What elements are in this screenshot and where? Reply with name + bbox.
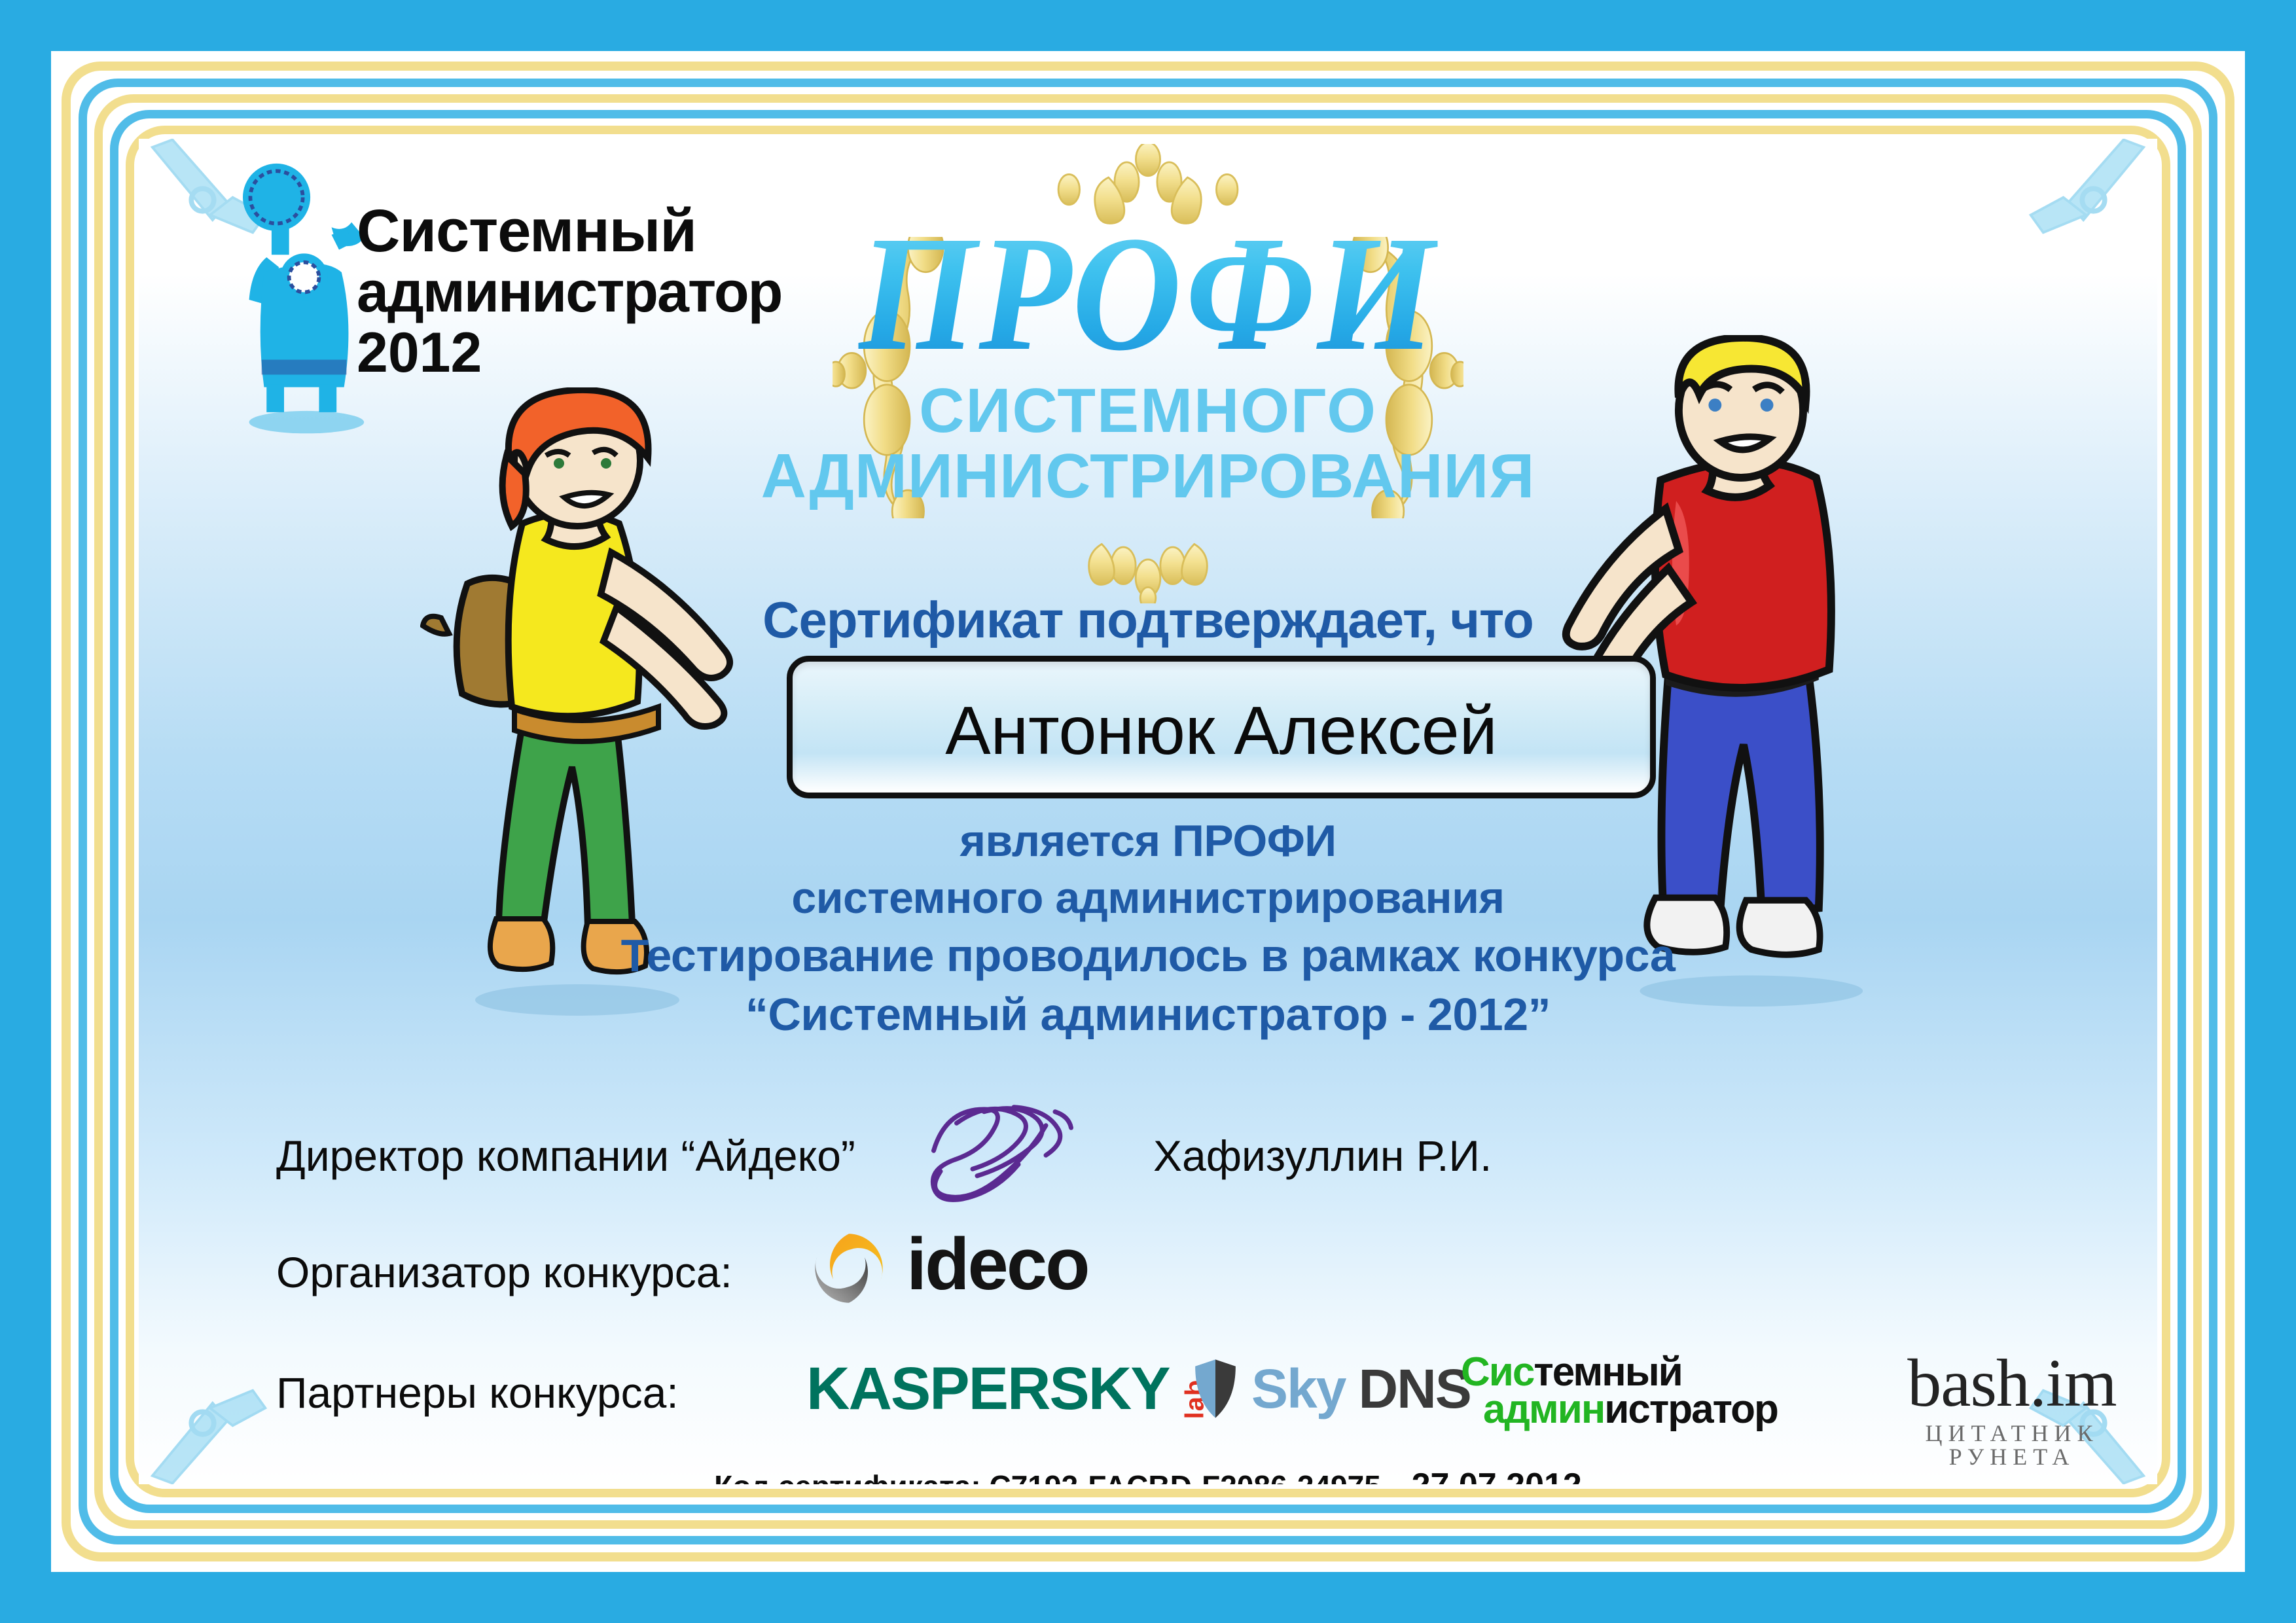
partners-row: Партнеры конкурса: KASPERSKY lab Sky DNS…: [139, 1343, 2157, 1454]
organizer-label: Организатор конкурса:: [276, 1247, 732, 1297]
organizer-row: Организатор конкурса: ideco: [139, 1225, 2157, 1330]
confirm-line: Сертификат подтверждает, что: [139, 590, 2157, 650]
handwritten-signature-icon: [918, 1099, 1101, 1204]
sysadmin-row2-black: истратор: [1604, 1387, 1778, 1432]
skydns-dns-text: DNS: [1358, 1361, 1470, 1416]
recipient-nameplate: Антонюк Алексей: [787, 656, 1656, 798]
signature-role: Директор компании “Айдеко”: [276, 1131, 855, 1181]
body-line-1: является ПРОФИ: [139, 813, 2157, 870]
certificate-inner-page: Системный администратор 2012: [139, 139, 2157, 1484]
kaspersky-wordmark: KASPERSKY: [806, 1359, 1170, 1419]
body-text-block: является ПРОФИ системного администрирова…: [139, 813, 2157, 1044]
code-label: Код сертификата:: [714, 1469, 981, 1484]
body-line-4: “Системный администратор - 2012”: [139, 986, 2157, 1044]
body-line-2: системного администрирования: [139, 870, 2157, 927]
recipient-name: Антонюк Алексей: [945, 692, 1497, 770]
issue-date: 27.07.2012: [1412, 1467, 1582, 1484]
certificate-code-line: Код сертификата: C7192-FACBD-F2086-24975…: [139, 1466, 2157, 1484]
page-title: ПРОФИ: [859, 211, 1438, 376]
signature-row: Директор компании “Айдеко” Хафизуллин Р.…: [139, 1114, 2157, 1205]
ideco-wordmark: ideco: [906, 1228, 1088, 1301]
sysadmin-row2-green: админ: [1483, 1387, 1604, 1432]
partners-label: Партнеры конкурса:: [276, 1368, 679, 1418]
skydns-logo-icon: Sky DNS: [1193, 1357, 1471, 1420]
bashim-logo-icon: bash.im ЦИТАТНИК РУНЕТА: [1867, 1349, 2157, 1469]
sysadmin-logo-icon: Системный администратор: [1461, 1353, 1778, 1428]
kaspersky-logo-icon: KASPERSKY lab: [806, 1359, 1215, 1419]
signature-person: Хафизуллин Р.И.: [1153, 1131, 1492, 1181]
ideco-logo: ideco: [810, 1229, 1088, 1308]
code-value: C7192-FACBD-F2086-24975: [990, 1469, 1381, 1484]
bashim-wordmark: bash.im: [1867, 1349, 2157, 1418]
body-line-3: Тестирование проводилось в рамках конкур…: [139, 927, 2157, 986]
certificate-page: Системный администратор 2012: [0, 0, 2296, 1623]
skydns-sky-text: Sky: [1251, 1361, 1345, 1416]
ideco-swirl-icon: [810, 1229, 888, 1308]
bashim-tagline: ЦИТАТНИК РУНЕТА: [1867, 1421, 2157, 1469]
skydns-shield-icon: [1193, 1357, 1238, 1420]
